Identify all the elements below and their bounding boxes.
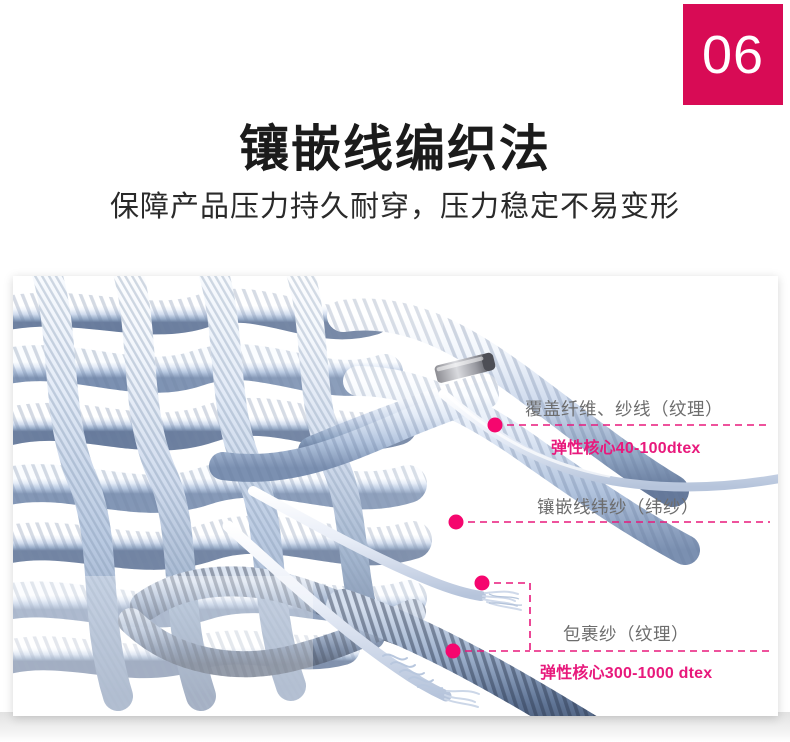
- card-shadow-strip: [0, 712, 790, 742]
- annotation-label-wrapped-yarn: 包裹纱（纹理）: [563, 621, 689, 646]
- annotation-sublabel-covering-fiber: 弹性核心40-100dtex: [551, 434, 701, 458]
- page-subtitle: 保障产品压力持久耐穿，压力稳定不易变形: [0, 190, 790, 225]
- step-number-badge: 06: [683, 4, 783, 105]
- heading-block: 镶嵌线编织法 保障产品压力持久耐穿，压力稳定不易变形: [0, 120, 790, 225]
- slide-root: 06 镶嵌线编织法 保障产品压力持久耐穿，压力稳定不易变形: [0, 0, 790, 742]
- page-title: 镶嵌线编织法: [0, 120, 790, 179]
- annotation-label-covering-fiber: 覆盖纤维、纱线（纹理）: [525, 396, 723, 421]
- annotation-sublabel-wrapped-yarn: 弹性核心300-1000 dtex: [540, 659, 712, 683]
- annotation-label-inlay-weft: 镶嵌线纬纱（纬纱）: [537, 494, 699, 519]
- step-number-text: 06: [702, 28, 764, 82]
